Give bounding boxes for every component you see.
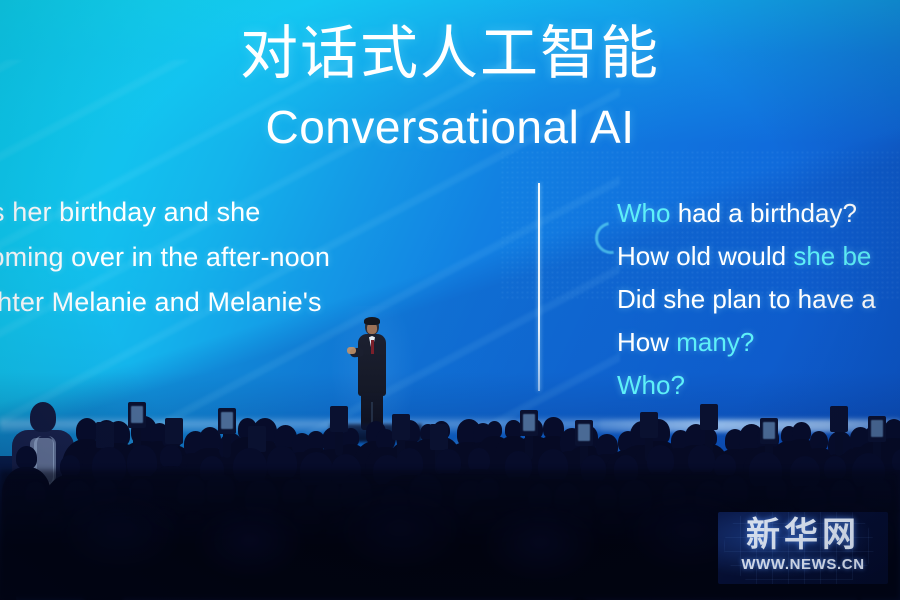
question-line: How old would she be: [617, 235, 900, 278]
question-keyword: Who?: [617, 370, 685, 400]
watermark-url-text: WWW.NEWS.CN: [718, 556, 888, 574]
question-keyword: she be: [793, 241, 871, 271]
raised-phone: [392, 414, 410, 440]
question-line: Did she plan to have a: [617, 278, 900, 321]
question-keyword: many?: [676, 327, 754, 357]
news-watermark: 新华网 WWW.NEWS.CN: [718, 512, 888, 584]
attendee-head: [30, 402, 56, 432]
question-text: How old would: [617, 241, 793, 271]
transcript-line: was coming over in the after-noon: [0, 235, 480, 280]
speaker-hair: [364, 317, 380, 325]
slide-title-english: Conversational AI: [0, 100, 900, 154]
slide-title-chinese: 对话式人工智能: [0, 22, 900, 86]
raised-phone: [700, 404, 718, 430]
column-divider: [538, 183, 540, 391]
phone-screen-glow: [131, 406, 143, 423]
question-line: Who had a birthday?: [617, 192, 900, 235]
audience-head: [16, 446, 37, 469]
audience-head: [468, 448, 490, 472]
speaker-hand: [347, 347, 356, 354]
speaker-necktie: [371, 340, 374, 354]
phone-screen-glow: [871, 420, 883, 437]
transcript-column: ay was her birthday and shewas coming ov…: [0, 190, 480, 325]
raised-phone: [96, 422, 114, 448]
raised-phone: [330, 406, 348, 432]
audience-head: [892, 449, 900, 472]
question-keyword: Who: [617, 198, 678, 228]
phone-screen-glow: [578, 424, 590, 441]
phone-screen-glow: [523, 414, 535, 431]
raised-phone: [830, 406, 848, 432]
phone-screen-glow: [763, 422, 775, 439]
question-text: Did she plan to have a: [617, 284, 876, 314]
question-text: How: [617, 327, 676, 357]
raised-phone: [165, 418, 183, 444]
transcript-line: ay was her birthday and she: [0, 190, 480, 235]
question-text: had a birthday?: [678, 198, 857, 228]
raised-phone: [430, 424, 448, 450]
questions-column: Who had a birthday?How old would she beD…: [617, 192, 900, 407]
watermark-chinese-text: 新华网: [718, 516, 888, 554]
phone-screen-glow: [221, 412, 233, 429]
raised-phone: [640, 412, 658, 438]
audience-head: [160, 445, 181, 468]
screenshot-root: 对话式人工智能 Conversational AI ay was her bir…: [0, 0, 900, 600]
question-line: How many?: [617, 321, 900, 364]
